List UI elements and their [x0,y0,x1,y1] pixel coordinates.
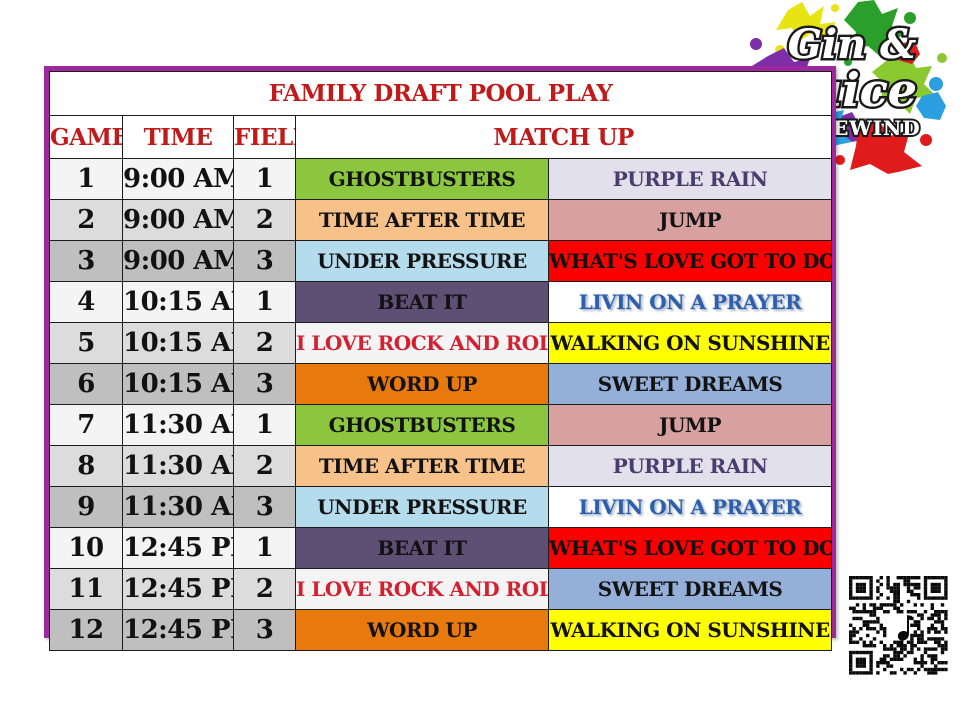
cell-team-b: WHAT'S LOVE GOT TO DO WITH IT [549,241,832,282]
schedule-table-body: FAMILY DRAFT POOL PLAY GAME# TIME FIELD … [50,72,832,651]
team-name: TIME AFTER TIME [319,208,525,232]
cell-field: 3 [234,241,296,282]
cell-team-a: WORD UP [296,364,549,405]
cell-team-a: UNDER PRESSURE [296,487,549,528]
team-name: WHAT'S LOVE GOT TO DO WITH IT [549,249,832,273]
cell-team-a: TIME AFTER TIME [296,446,549,487]
cell-field: 2 [234,569,296,610]
team-name: BEAT IT [377,536,466,560]
cell-team-a: GHOSTBUSTERS [296,159,549,200]
team-name: JUMP [659,413,721,437]
cell-team-a: BEAT IT [296,282,549,323]
cell-game-number: 2 [50,200,123,241]
team-name: TIME AFTER TIME [319,454,525,478]
team-name: WALKING ON SUNSHINE [550,618,829,642]
cell-time: 9:00 AM [123,241,234,282]
team-name: UNDER PRESSURE [317,249,527,273]
cell-team-a: I LOVE ROCK AND ROLL [296,569,549,610]
cell-team-b: JUMP [549,405,832,446]
team-name: WORD UP [367,618,477,642]
cell-game-number: 11 [50,569,123,610]
cell-team-a: GHOSTBUSTERS [296,405,549,446]
header-row: GAME# TIME FIELD MATCH UP [50,116,832,159]
cell-field: 2 [234,446,296,487]
table-row: 1012:45 PM1BEAT ITWHAT'S LOVE GOT TO DO … [50,528,832,569]
cell-team-a: BEAT IT [296,528,549,569]
table-row: 29:00 AM2TIME AFTER TIMEJUMP [50,200,832,241]
table-row: 711:30 AM1GHOSTBUSTERSJUMP [50,405,832,446]
team-name: GHOSTBUSTERS [329,413,516,437]
cell-field: 1 [234,159,296,200]
cell-time: 12:45 PM [123,569,234,610]
cell-field: 2 [234,323,296,364]
cell-time: 10:15 AM [123,364,234,405]
cell-team-b: SWEET DREAMS [549,364,832,405]
cell-time: 10:15 AM [123,282,234,323]
cell-team-b: WALKING ON SUNSHINE [549,610,832,651]
cell-field: 1 [234,528,296,569]
cell-team-b: PURPLE RAIN [549,159,832,200]
cell-team-b: SWEET DREAMS [549,569,832,610]
team-name: WALKING ON SUNSHINE [550,331,829,355]
cell-field: 1 [234,405,296,446]
table-row: 410:15 AM1BEAT ITLIVIN ON A PRAYER [50,282,832,323]
team-name: I LOVE ROCK AND ROLL [296,577,549,601]
cell-team-b: LIVIN ON A PRAYER [549,282,832,323]
table-row: 1112:45 PM2I LOVE ROCK AND ROLLSWEET DRE… [50,569,832,610]
team-name: WHAT'S LOVE GOT TO DO WITH IT [549,536,832,560]
cell-game-number: 8 [50,446,123,487]
team-name: SWEET DREAMS [598,577,783,601]
cell-time: 11:30 AM [123,405,234,446]
cell-field: 3 [234,610,296,651]
schedule-table-frame: FAMILY DRAFT POOL PLAY GAME# TIME FIELD … [44,66,836,638]
cell-game-number: 6 [50,364,123,405]
cell-team-b: WHAT'S LOVE GOT TO DO WITH IT [549,528,832,569]
cell-team-a: I LOVE ROCK AND ROLL [296,323,549,364]
cell-field: 3 [234,487,296,528]
cell-game-number: 4 [50,282,123,323]
title-row: FAMILY DRAFT POOL PLAY [50,72,832,116]
cell-time: 11:30 AM [123,446,234,487]
cell-game-number: 10 [50,528,123,569]
cell-time: 11:30 AM [123,487,234,528]
column-header-matchup: MATCH UP [296,116,832,159]
table-row: 39:00 AM3UNDER PRESSUREWHAT'S LOVE GOT T… [50,241,832,282]
table-row: 510:15 AM2I LOVE ROCK AND ROLLWALKING ON… [50,323,832,364]
team-name: PURPLE RAIN [613,454,768,478]
cell-game-number: 3 [50,241,123,282]
column-header-time: TIME [123,116,234,159]
cell-time: 9:00 AM [123,200,234,241]
cell-field: 1 [234,282,296,323]
cell-time: 10:15 AM [123,323,234,364]
cell-time: 12:45 PM [123,610,234,651]
team-name: I LOVE ROCK AND ROLL [296,331,549,355]
cell-team-b: PURPLE RAIN [549,446,832,487]
table-row: 19:00 AM1GHOSTBUSTERSPURPLE RAIN [50,159,832,200]
cell-game-number: 5 [50,323,123,364]
team-name: BEAT IT [377,290,466,314]
cell-time: 12:45 PM [123,528,234,569]
table-row: 610:15 AM3WORD UPSWEET DREAMS [50,364,832,405]
team-name: LIVIN ON A PRAYER [579,495,802,519]
table-row: 811:30 AM2TIME AFTER TIMEPURPLE RAIN [50,446,832,487]
cell-game-number: 1 [50,159,123,200]
cell-game-number: 7 [50,405,123,446]
cell-game-number: 9 [50,487,123,528]
column-header-field: FIELD [234,116,296,159]
team-name: LIVIN ON A PRAYER [579,290,802,314]
cell-field: 2 [234,200,296,241]
page-title: FAMILY DRAFT POOL PLAY [50,72,832,116]
cell-team-b: JUMP [549,200,832,241]
team-name: WORD UP [367,372,477,396]
table-row: 911:30 AM3UNDER PRESSURELIVIN ON A PRAYE… [50,487,832,528]
cell-team-a: WORD UP [296,610,549,651]
team-name: UNDER PRESSURE [317,495,527,519]
cell-time: 9:00 AM [123,159,234,200]
table-row: 1212:45 PM3WORD UPWALKING ON SUNSHINE [50,610,832,651]
team-name: JUMP [659,208,721,232]
pool-play-schedule-table: FAMILY DRAFT POOL PLAY GAME# TIME FIELD … [49,71,832,651]
cell-team-b: WALKING ON SUNSHINE [549,323,832,364]
column-header-game: GAME# [50,116,123,159]
cell-field: 3 [234,364,296,405]
svg-text:Gin &: Gin & [788,21,916,68]
team-name: GHOSTBUSTERS [329,167,516,191]
cell-game-number: 12 [50,610,123,651]
cell-team-a: TIME AFTER TIME [296,200,549,241]
cell-team-a: UNDER PRESSURE [296,241,549,282]
team-name: SWEET DREAMS [598,372,783,396]
cell-team-b: LIVIN ON A PRAYER [549,487,832,528]
team-name: PURPLE RAIN [613,167,768,191]
qr-code[interactable] [848,563,952,691]
